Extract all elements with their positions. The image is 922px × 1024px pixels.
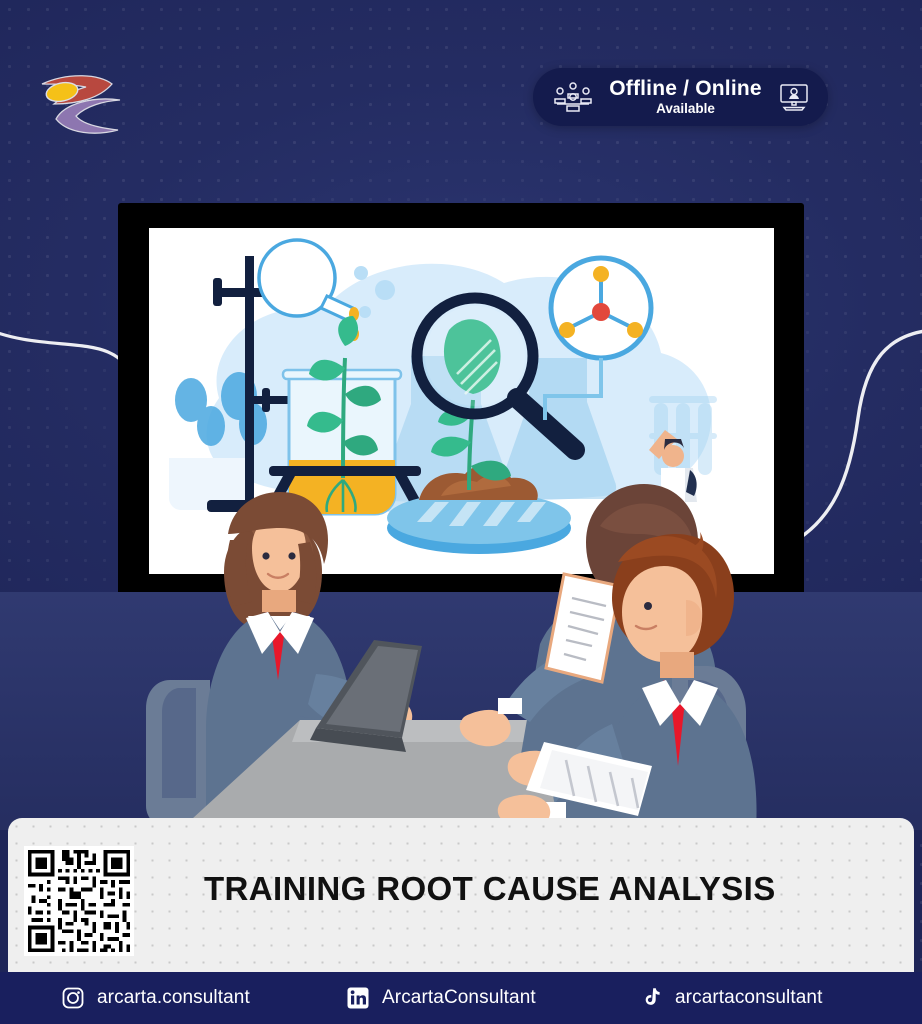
tiktok-handle: arcartaconsultant <box>675 987 822 1009</box>
instagram-handle: arcarta.consultant <box>97 987 250 1009</box>
audience-group <box>0 430 922 830</box>
social-tiktok[interactable]: arcartaconsultant <box>638 985 822 1011</box>
qr-code[interactable] <box>24 846 134 956</box>
linkedin-icon <box>345 985 371 1011</box>
offline-online-badge[interactable]: Offline / Online Available <box>533 68 828 126</box>
page-title: TRAINING ROOT CAUSE ANALYSIS <box>204 870 776 908</box>
tiktok-icon <box>638 985 664 1011</box>
instagram-icon <box>60 985 86 1011</box>
social-instagram[interactable]: arcarta.consultant <box>60 985 250 1011</box>
badge-subtitle: Available <box>601 102 770 116</box>
arcarta-logo[interactable] <box>34 64 134 140</box>
group-meeting-icon <box>545 81 601 113</box>
badge-title: Offline / Online <box>601 78 770 100</box>
social-footer: arcarta.consultant ArcartaConsultant arc… <box>0 972 922 1024</box>
title-card: TRAINING ROOT CAUSE ANALYSIS <box>8 818 914 972</box>
social-linkedin[interactable]: ArcartaConsultant <box>345 985 536 1011</box>
promo-poster: Offline / Online Available <box>0 0 922 1024</box>
badge-text-block: Offline / Online Available <box>601 78 770 116</box>
online-monitor-person-icon <box>770 82 818 112</box>
linkedin-handle: ArcartaConsultant <box>382 987 536 1009</box>
